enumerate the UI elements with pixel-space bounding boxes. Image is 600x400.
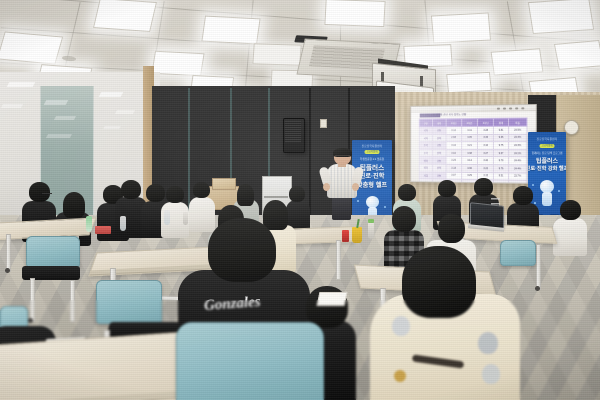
slide-table-cell: 선택 (432, 164, 445, 172)
desk-leg (536, 244, 541, 290)
slide-table-cell: 3.28 (478, 126, 494, 134)
slide-table-cell: 24.7% (508, 180, 527, 184)
slide-table-cell: 3.44 (446, 142, 462, 150)
presenter-glasses-icon (335, 155, 350, 159)
banner-subtitle: 학생맞춤형 1:1 맞춤형 (360, 157, 384, 161)
ceiling-light-panel (93, 0, 157, 32)
iced-drink-cup (352, 227, 362, 243)
slide-table-cell: 2.98 (446, 134, 462, 142)
slide-title: 진로·진학 교과 선택에 관한 과목 성취도 현황 (420, 112, 500, 117)
slide-table-cell: 3.25 (446, 157, 462, 165)
student-hair (398, 184, 416, 201)
drink-bottle (86, 216, 92, 232)
banner-logo-text: 진로진학지원센터 (362, 144, 383, 148)
slide-table-cell: 국어 (419, 134, 432, 141)
slide-table-header-cell: 합계 (494, 118, 508, 126)
slide-table-cell: 선택 (432, 134, 445, 142)
drink-cap (368, 219, 374, 223)
slide-table-row: 국어선택2.983.053.339.3623.4% (419, 134, 527, 142)
wall-clock-icon (564, 120, 579, 135)
slide-table-cell: 3.22 (478, 165, 494, 173)
slide-table-cell: 24.3% (508, 142, 527, 150)
slide-table-cell: 9.79 (494, 157, 508, 165)
hoodie-cat-print (392, 316, 410, 336)
slide-table-cell: 공통 (432, 127, 445, 135)
student-hair (166, 186, 184, 203)
student-glasses-icon (42, 193, 52, 197)
desk-caster (5, 268, 10, 273)
student-hair (208, 218, 276, 282)
student-hair (193, 182, 210, 198)
slide-table-cell: 3.10 (478, 142, 494, 150)
ceiling-light-panel (554, 40, 600, 70)
ceiling-light-panel (491, 48, 544, 75)
ceiling-light-panel (252, 43, 301, 66)
desk-caster (535, 286, 540, 291)
ceiling-light-panel (0, 31, 63, 64)
slide-table-cell: 3.12 (446, 127, 462, 135)
slide-table-cell: 3.38 (462, 149, 478, 157)
presenter (322, 148, 362, 220)
presenter-hand-right (352, 183, 359, 191)
slide-table-cell: 수학 (419, 149, 432, 157)
ceiling-light-panel (446, 72, 492, 93)
slide-table-cell: 수학 (419, 142, 432, 149)
soda-can (342, 230, 349, 242)
slide-table-cell: 3.36 (462, 164, 478, 172)
banner-heading-1: 팁플러스 (536, 156, 558, 165)
slide-table-cell: 영어 (419, 157, 432, 165)
smoke-detector-icon (62, 55, 76, 61)
slide-table-cell: 영어 (419, 164, 432, 172)
classroom-chair[interactable] (176, 322, 324, 400)
desk-leg (6, 234, 11, 272)
slide-table-cell: 3.33 (478, 134, 494, 142)
student-hair (29, 182, 50, 202)
slide-table-cell: 3.18 (446, 164, 462, 172)
slide-table-cell: 24.4% (508, 165, 527, 173)
ceiling-light-panel (324, 0, 385, 27)
worksheet-paper[interactable] (317, 292, 348, 306)
chair-leg (70, 280, 75, 322)
slide-table-header-cell: 구분 (419, 119, 432, 127)
banner-mascot-body-icon (542, 192, 552, 206)
slide-table-cell: 3.41 (462, 126, 478, 134)
slide-table-cell: 9.81 (494, 126, 508, 134)
desk-leg (336, 240, 341, 280)
slide-table-header-cell: 2학년 (462, 118, 478, 126)
student-hair (121, 180, 141, 199)
slide-table-header-cell: 3학년 (478, 118, 494, 126)
slide-table-cell: 24.4% (508, 157, 527, 165)
student-hair (63, 192, 85, 218)
slide-table-cell: 3.02 (446, 149, 462, 157)
slide-table-cell: 3.21 (462, 142, 478, 150)
hoodie-cat-print (478, 332, 498, 354)
banner-pill-label: 고교학점제 (540, 144, 555, 148)
drink-bottle (120, 216, 126, 231)
light-switch[interactable] (320, 119, 327, 128)
slide-table-header-cell: 과목 (432, 119, 445, 127)
slide-table-cell: 3.05 (462, 134, 478, 142)
slide-table-body: 국어공통3.123.413.289.8124.5%국어선택2.983.053.3… (419, 126, 527, 184)
student-hair (438, 180, 456, 197)
slide-table-header-cell: 비율 (508, 118, 527, 126)
student-hair (402, 246, 476, 318)
slide-data-table: 구분과목1학년2학년3학년합계비율 국어공통3.123.413.289.8124… (419, 117, 528, 183)
classroom-photo: 진로·진학 교과 선택에 관한 과목 성취도 현황 구분과목1학년2학년3학년합… (0, 0, 600, 400)
slide-table-cell: 24.5% (508, 126, 527, 134)
slide-table-cell: 23.4% (508, 134, 527, 142)
slide-table-cell: 3.14 (462, 157, 478, 165)
slide-table-header-cell: 1학년 (446, 119, 462, 127)
slide-table-cell: 공통 (432, 142, 445, 150)
student-front-right (370, 246, 520, 400)
student-hair (474, 178, 493, 196)
drink-bottle (368, 222, 374, 239)
student (552, 200, 588, 256)
classroom-chair[interactable] (96, 280, 162, 324)
slide-table-cell: 24.1% (508, 149, 527, 157)
snack-package (95, 226, 111, 234)
student-hair (392, 206, 416, 232)
slide-table-cell: 공통 (432, 172, 445, 180)
slide-table-cell: 공통 (432, 157, 445, 165)
slide-table-cell: 9.75 (494, 142, 508, 150)
hoodie-cat-print (482, 364, 500, 384)
banner-logo-text: 진로진학지원센터 (537, 137, 558, 141)
slide-table-cell: 사회 (419, 172, 432, 180)
banner-subtitle: 함께하는 진로 탐색 프로그램 (532, 151, 563, 155)
slide-table-cell: 3.27 (478, 149, 494, 157)
student-hair (560, 200, 581, 220)
projection-screen: 진로·진학 교과 선택에 관한 과목 성취도 현황 구분과목1학년2학년3학년합… (410, 104, 536, 184)
slide-table-cell: 9.76 (494, 165, 508, 173)
banner-pill-label: 고교학점제 (365, 150, 380, 154)
drink-bottle (164, 210, 170, 225)
student-hair (513, 186, 533, 205)
ceiling-light-panel (201, 16, 260, 45)
student-top (553, 218, 587, 256)
ceiling-light-panel (431, 12, 491, 43)
student-hair (438, 214, 465, 243)
slide-table-cell: 국어 (419, 127, 432, 135)
classroom-chair[interactable] (26, 236, 80, 268)
slide-table-cell: 9.67 (494, 149, 508, 157)
slide-table-cell: 선택 (432, 149, 445, 157)
speaker-mesh (285, 121, 301, 143)
ceiling-light-panel (528, 0, 594, 34)
slide-table-cell: 9.36 (494, 134, 508, 142)
presenter-hand-left (323, 183, 330, 191)
hoodie-badge (394, 370, 406, 382)
slide-table-cell: 3.40 (478, 157, 494, 165)
banner-heading-2: 진로·진학 강화 헬프 (528, 165, 566, 172)
